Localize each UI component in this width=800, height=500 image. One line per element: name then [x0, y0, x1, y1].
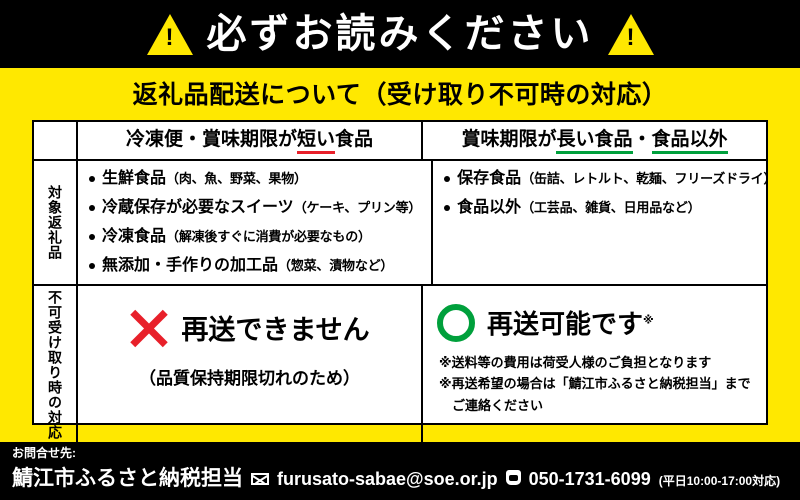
info-table: 冷凍便・賞味期限が短い食品 賞味期限が長い食品・食品以外 対象返礼品 生鮮食品（… — [32, 120, 768, 425]
list-item: 生鮮食品（肉、魚、野菜、果物） — [88, 169, 421, 188]
note-line: ※再送希望の場合は「鯖江市ふるさと納税担当」まで — [439, 375, 756, 393]
can-resend-asterisk: ※ — [643, 314, 654, 326]
footer-telephone[interactable]: 050-1731-6099 — [529, 469, 651, 490]
item-main: 冷凍食品 — [102, 228, 166, 245]
list-item: 保存食品（缶詰、レトルト、乾麺、フリーズドライ） — [443, 169, 776, 188]
col-head-mid-prefix: 冷凍便 — [126, 129, 183, 150]
col-head-right-sep: ・ — [633, 129, 652, 150]
col-head-mid-sep: ・ — [183, 129, 202, 150]
item-main: 生鮮食品 — [102, 170, 166, 187]
item-note: （工芸品、雑貨、日用品など） — [521, 200, 700, 215]
x-mark-icon — [129, 308, 169, 348]
row-label-text: 対象返礼品 — [47, 185, 63, 260]
list-item: 冷凍食品（解凍後すぐに消費が必要なもの） — [88, 227, 421, 246]
item-main: 冷蔵保存が必要なスイーツ — [102, 199, 294, 216]
cell-cannot-resend: 再送できません （品質保持期限切れのため） — [78, 286, 423, 444]
col-head-mid-underlined: 短い — [297, 129, 335, 154]
can-resend-text: 再送可能です※ — [487, 304, 654, 341]
cannot-resend-text: 再送できません — [181, 308, 369, 347]
footer-hours: (平日10:00-17:00対応) — [659, 472, 780, 489]
table-row-target-items: 対象返礼品 生鮮食品（肉、魚、野菜、果物） 冷蔵保存が必要なスイーツ（ケーキ、プ… — [34, 161, 766, 286]
item-note: （肉、魚、野菜、果物） — [166, 171, 307, 186]
col-head-mid-suffix: 食品 — [335, 129, 373, 150]
col-head-right-prefix: 賞味期限が — [461, 129, 556, 150]
list-item: 無添加・手作りの加工品（惣菜、漬物など） — [88, 256, 421, 275]
row-label-text: 不可受け取り時の対応 — [47, 290, 63, 440]
cell-short-shelf-life-items: 生鮮食品（肉、魚、野菜、果物） 冷蔵保存が必要なスイーツ（ケーキ、プリン等） 冷… — [78, 161, 433, 284]
phone-icon — [506, 470, 521, 485]
list-item: 食品以外（工芸品、雑貨、日用品など） — [443, 198, 776, 217]
column-header-short-shelf-life: 冷凍便・賞味期限が短い食品 — [78, 122, 423, 159]
footer-email[interactable]: furusato-sabae@soe.or.jp — [277, 469, 498, 490]
item-main: 食品以外 — [457, 199, 521, 216]
column-header-long-shelf-life: 賞味期限が長い食品・食品以外 — [423, 122, 766, 159]
table-header-row: 冷凍便・賞味期限が短い食品 賞味期限が長い食品・食品以外 — [34, 122, 766, 161]
item-main: 無添加・手作りの加工品 — [102, 257, 278, 274]
exclamation-glyph: ! — [608, 26, 654, 50]
col-head-right-underlined-2: 食品以外 — [652, 129, 728, 154]
footer-label: お問合せ先: — [12, 446, 790, 460]
mail-icon — [251, 473, 269, 485]
cell-can-resend: 再送可能です※ ※送料等の費用は荷受人様のご負担となります ※再送希望の場合は「… — [423, 286, 766, 444]
item-note: （缶詰、レトルト、乾麺、フリーズドライ） — [521, 171, 776, 186]
col-head-right-underlined-1: 長い食品 — [556, 129, 632, 154]
header-corner-cell — [34, 122, 78, 159]
header-title: 必ずお読みください — [207, 14, 594, 54]
table-row-response: 不可受け取り時の対応 再送できません （品質保持期限切れのため） 再送可能です※ — [34, 286, 766, 444]
item-note: （解凍後すぐに消費が必要なもの） — [166, 229, 371, 244]
warning-triangle-icon-left: ! — [147, 14, 193, 55]
note-line: ご連絡ください — [439, 397, 756, 415]
can-resend-block: 再送可能です※ — [433, 304, 756, 342]
row-label-response: 不可受け取り時の対応 — [34, 286, 78, 444]
footer-contact-bar: お問合せ先: 鯖江市ふるさと納税担当 furusato-sabae@soe.or… — [0, 442, 800, 500]
bullet-list-long: 保存食品（缶詰、レトルト、乾麺、フリーズドライ） 食品以外（工芸品、雑貨、日用品… — [443, 169, 776, 217]
can-resend-label: 再送可能です — [487, 309, 643, 339]
flyer-page: ! 必ずお読みください ! 返礼品配送について（受け取り不可時の対応） 冷凍便・… — [0, 0, 800, 500]
cannot-resend-reason: （品質保持期限切れのため） — [88, 364, 411, 389]
header-bar: ! 必ずお読みください ! — [0, 0, 800, 68]
can-resend-notes: ※送料等の費用は荷受人様のご負担となります ※再送希望の場合は「鯖江市ふるさと納… — [433, 354, 756, 415]
cannot-resend-block: 再送できません — [88, 308, 411, 348]
footer-organization: 鯖江市ふるさと納税担当 — [12, 462, 243, 492]
row-label-target-items: 対象返礼品 — [34, 161, 78, 284]
exclamation-glyph: ! — [147, 26, 193, 50]
note-line: ※送料等の費用は荷受人様のご負担となります — [439, 354, 756, 372]
item-note: （ケーキ、プリン等） — [294, 200, 421, 215]
list-item: 冷蔵保存が必要なスイーツ（ケーキ、プリン等） — [88, 198, 421, 217]
bullet-list-short: 生鮮食品（肉、魚、野菜、果物） 冷蔵保存が必要なスイーツ（ケーキ、プリン等） 冷… — [88, 169, 421, 276]
warning-triangle-icon-right: ! — [608, 14, 654, 55]
item-note: （惣菜、漬物など） — [278, 258, 393, 273]
item-main: 保存食品 — [457, 170, 521, 187]
circle-mark-icon — [437, 304, 475, 342]
cell-long-shelf-life-items: 保存食品（缶詰、レトルト、乾麺、フリーズドライ） 食品以外（工芸品、雑貨、日用品… — [433, 161, 786, 284]
col-head-mid-mid: 賞味期限が — [202, 129, 297, 150]
page-subtitle: 返礼品配送について（受け取り不可時の対応） — [0, 68, 800, 118]
footer-contact-row: 鯖江市ふるさと納税担当 furusato-sabae@soe.or.jp 050… — [12, 462, 790, 492]
